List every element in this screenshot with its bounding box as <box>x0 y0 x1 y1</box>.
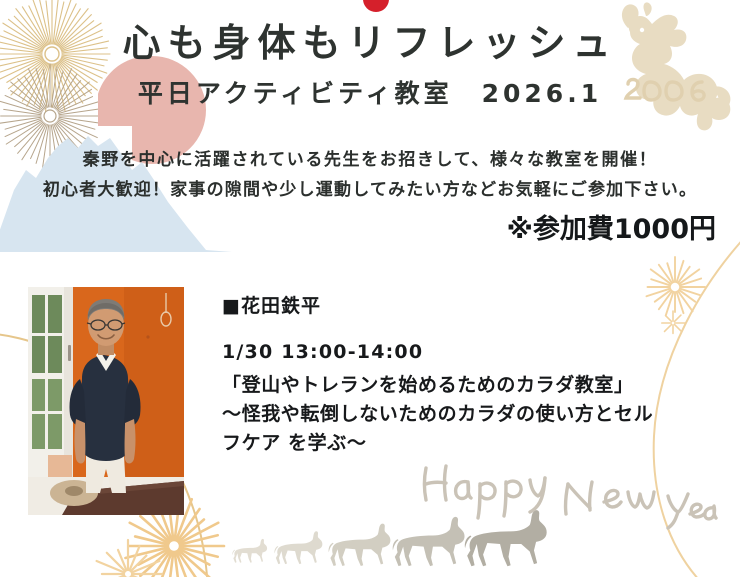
page-subtitle: 平日アクティビティ教室 2026.1 <box>0 74 740 110</box>
lead-text-line-2: 初心者大歓迎！家事の隙間や少し運動してみたい方などお気軽にご参加下さい。 <box>0 175 740 200</box>
starburst-right-icon <box>644 256 706 318</box>
page-title: 心も身体もリフレッシュ <box>0 12 740 67</box>
lead-text-line-1: 秦野を中心に活躍されている先生をお招きして、様々な教室を開催！ <box>0 145 740 170</box>
poster-canvas: 心も身体もリフレッシュ 平日アクティビティ教室 2026.1 秦野を中心に活躍さ… <box>0 0 740 577</box>
instructor-name: ■花田鉄平 <box>222 291 321 318</box>
red-sun-dot-icon <box>363 0 389 12</box>
happy-new-year-greeting-icon <box>418 452 718 534</box>
starburst-right-small-icon <box>660 310 686 336</box>
instructor-photo <box>28 287 184 515</box>
starburst-small-lowerleft-icon <box>92 538 164 577</box>
session-title: 「登山やトレランを始めるためのカラダ教室」 <box>222 370 634 397</box>
session-datetime: 1/30 13:00-14:00 <box>222 341 423 363</box>
session-subtitle-line-2: フケア を学ぶ〜 <box>222 428 366 455</box>
horse-parade-icon <box>232 508 552 577</box>
session-subtitle-line-1: 〜怪我や転倒しないためのカラダの使い方とセル <box>222 399 653 426</box>
price-note: ※参加費1000円 <box>507 207 716 246</box>
